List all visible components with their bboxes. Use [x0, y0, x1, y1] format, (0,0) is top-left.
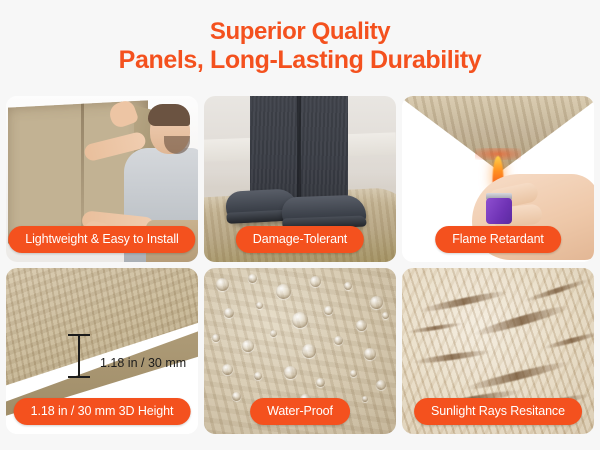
page-title-line-1: Superior Quality: [0, 18, 600, 46]
feature-card-lightweight[interactable]: Lightweight & Easy to Install: [6, 96, 198, 262]
product-feature-infographic: Superior Quality Panels, Long-Lasting Du…: [0, 0, 600, 450]
feature-badge-sunlight-resistance: Sunlight Rays Resitance: [414, 398, 582, 426]
page-title-line-2: Panels, Long-Lasting Durability: [0, 46, 600, 74]
page-title: Superior Quality Panels, Long-Lasting Du…: [0, 18, 600, 74]
dimension-annotation: 1.18 in / 30 mm: [68, 330, 198, 386]
feature-card-water-proof[interactable]: Water-Proof: [204, 268, 396, 434]
feature-card-flame-retardant[interactable]: Flame Retardant: [402, 96, 594, 262]
feature-badge-water-proof: Water-Proof: [250, 398, 350, 426]
feature-badge-3d-height: 1.18 in / 30 mm 3D Height: [14, 398, 191, 426]
feature-grid: Lightweight & Easy to Install Damage-Tol…: [6, 96, 594, 434]
dimension-label: 1.18 in / 30 mm: [100, 356, 186, 370]
feature-badge-lightweight: Lightweight & Easy to Install: [8, 226, 195, 254]
feature-badge-damage-tolerant: Damage-Tolerant: [236, 226, 364, 254]
feature-card-3d-height[interactable]: 1.18 in / 30 mm 1.18 in / 30 mm 3D Heigh…: [6, 268, 198, 434]
feature-badge-flame-retardant: Flame Retardant: [435, 226, 561, 254]
feature-card-sunlight-resistance[interactable]: Sunlight Rays Resitance: [402, 268, 594, 434]
feature-card-damage-tolerant[interactable]: Damage-Tolerant: [204, 96, 396, 262]
